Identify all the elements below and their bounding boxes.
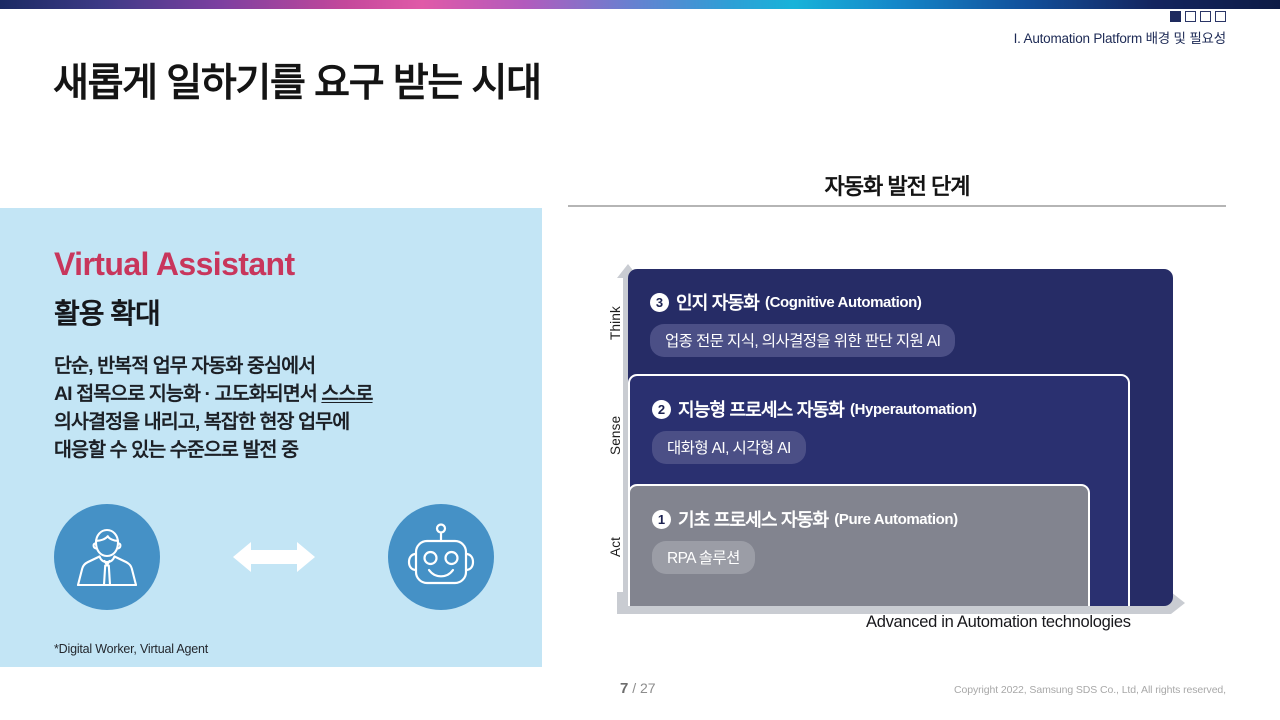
virtual-assistant-subtitle: 활용 확대: [54, 292, 160, 332]
body-line-4: 대응할 수 있는 수준으로 발전 중: [54, 436, 373, 464]
body-line-2: AI 접목으로 지능화 · 고도화되면서 스스로: [54, 380, 373, 408]
axis-label-act: Act: [608, 537, 623, 557]
section-indicator: [1014, 11, 1226, 22]
indicator-square-3: [1200, 11, 1211, 22]
worker-agent-illustration: [54, 503, 494, 611]
copyright-text: Copyright 2022, Samsung SDS Co., Ltd, Al…: [954, 684, 1226, 696]
header-right: I. Automation Platform 배경 및 필요성: [1014, 11, 1226, 47]
level-3-tag: 업종 전문 지식, 의사결정을 위한 판단 지원 AI: [650, 324, 955, 357]
level-2-title-en: (Hyperautomation): [850, 401, 977, 418]
page-number: 7 / 27: [620, 680, 656, 697]
double-arrow-icon: [160, 538, 388, 576]
right-panel-title: 자동화 발전 단계: [568, 169, 1226, 201]
level-3-title-en: (Cognitive Automation): [765, 294, 921, 311]
level-1-tag: RPA 솔루션: [652, 541, 755, 574]
page-separator: /: [628, 680, 640, 696]
level-2-title-ko: 지능형 프로세스 자동화: [678, 396, 844, 422]
slide: I. Automation Platform 배경 및 필요성 새롭게 일하기를…: [0, 0, 1280, 720]
footnote: *Digital Worker, Virtual Agent: [54, 642, 208, 656]
page-total: 27: [640, 680, 656, 696]
section-label: I. Automation Platform 배경 및 필요성: [1014, 27, 1226, 47]
body-line-1: 단순, 반복적 업무 자동화 중심에서: [54, 352, 373, 380]
person-icon: [54, 504, 160, 610]
level-3-title-ko: 인지 자동화: [676, 289, 759, 315]
page-title: 새롭게 일하기를 요구 받는 시대: [53, 52, 541, 108]
level-3-badge: 3: [650, 293, 669, 312]
indicator-square-2: [1185, 11, 1196, 22]
body-line-3: 의사결정을 내리고, 복잡한 현장 업무에: [54, 408, 373, 436]
axis-label-sense: Sense: [608, 416, 623, 455]
level-1-title-ko: 기초 프로세스 자동화: [678, 506, 828, 532]
robot-icon: [388, 504, 494, 610]
axis-label-think: Think: [608, 306, 623, 340]
indicator-square-4: [1215, 11, 1226, 22]
level-2-badge: 2: [652, 400, 671, 419]
level-1-badge: 1: [652, 510, 671, 529]
axis-label-advanced: Advanced in Automation technologies: [866, 613, 1131, 632]
level-1-pure-automation[interactable]: 1 기초 프로세스 자동화 (Pure Automation) RPA 솔루션: [628, 484, 1090, 606]
right-panel-divider: [568, 205, 1226, 207]
level-2-tag: 대화형 AI, 시각형 AI: [652, 431, 806, 464]
virtual-assistant-title: Virtual Assistant: [54, 246, 295, 283]
virtual-assistant-body: 단순, 반복적 업무 자동화 중심에서 AI 접목으로 지능화 · 고도화되면서…: [54, 352, 373, 464]
level-1-title-en: (Pure Automation): [834, 511, 957, 528]
indicator-square-1: [1170, 11, 1181, 22]
brand-gradient-bar: [0, 0, 1280, 9]
